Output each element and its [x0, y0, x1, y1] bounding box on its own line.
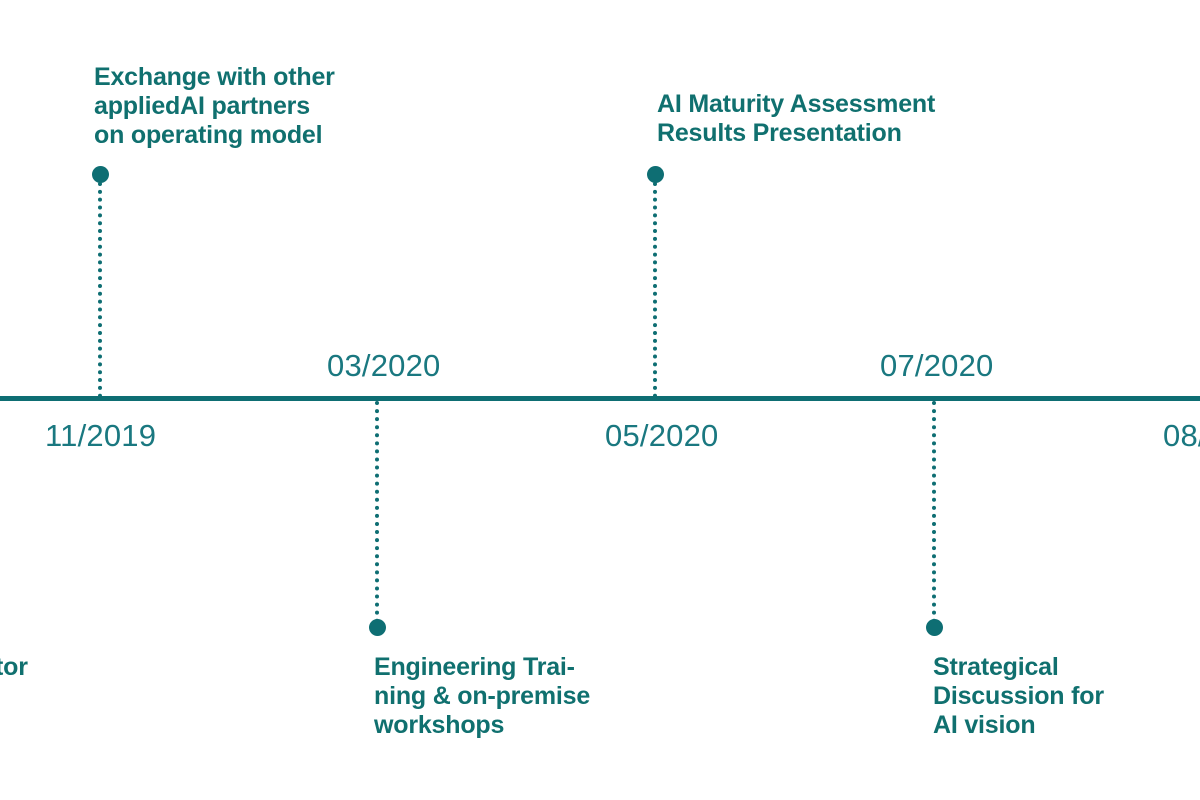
event-marker-dot[interactable]: [926, 619, 943, 636]
event-connector-stem: [653, 182, 657, 398]
event-ai-maturity-assessment-label: AI Maturity Assessment Results Presentat…: [657, 90, 935, 148]
event-strategical-discussion-label: Strategical Discussion for AI vision: [933, 653, 1104, 740]
timeline-date-label: 08/: [1163, 420, 1200, 451]
timeline-date-label: 11/2019: [45, 420, 156, 451]
timeline-axis-line: [0, 396, 1200, 401]
timeline-date-label: 05/2020: [605, 420, 718, 451]
event-exchange-partners-label: Exchange with other appliedAI partners o…: [94, 63, 335, 150]
event-connector-stem: [375, 401, 379, 623]
event-engineering-training-label: Engineering Trai- ning & on-premise work…: [374, 653, 590, 740]
event-clipped-left-label: tor: [0, 653, 28, 682]
event-connector-stem: [932, 401, 936, 623]
event-connector-stem: [98, 182, 102, 398]
timeline-date-label: 03/2020: [327, 350, 440, 381]
event-marker-dot[interactable]: [92, 166, 109, 183]
event-marker-dot[interactable]: [647, 166, 664, 183]
timeline-diagram: Exchange with other appliedAI partners o…: [0, 0, 1200, 800]
timeline-date-label: 07/2020: [880, 350, 993, 381]
event-marker-dot[interactable]: [369, 619, 386, 636]
